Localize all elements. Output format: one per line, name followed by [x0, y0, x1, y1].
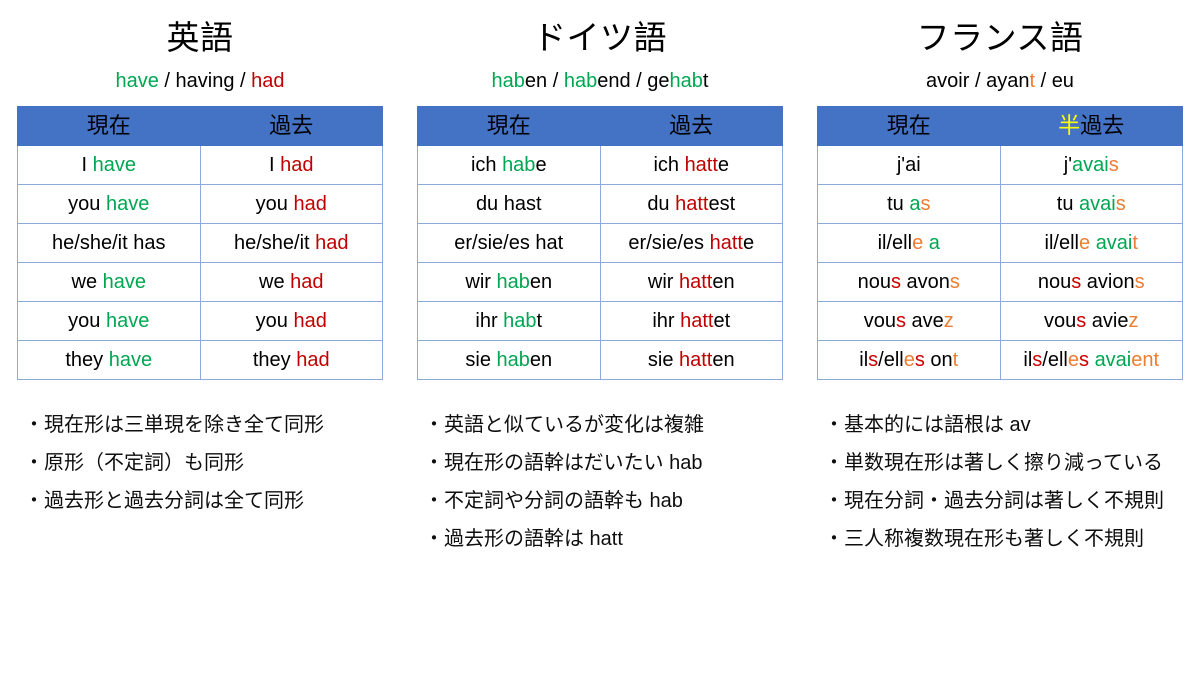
- text-segment: you: [68, 193, 106, 215]
- text-segment: have: [103, 271, 146, 293]
- text-segment: avai: [1079, 193, 1116, 215]
- cell-present: I have: [18, 146, 201, 185]
- note-item: 現在形は三単現を除き全て同形: [24, 406, 390, 444]
- conjugation-table: 現在過去I haveI hadyou haveyou hadhe/she/it …: [17, 106, 383, 380]
- text-segment: s: [950, 271, 960, 293]
- cell-present: wir haben: [418, 263, 601, 302]
- text-segment: s: [1071, 271, 1081, 293]
- text-segment: he/she/it: [234, 232, 315, 254]
- text-segment: 現在: [87, 113, 131, 138]
- text-segment: er/sie/es: [628, 232, 709, 254]
- text-segment: had: [280, 154, 313, 176]
- note-item: 過去形と過去分詞は全て同形: [24, 482, 390, 520]
- conjugation-table: 現在半過去j'aij'avaistu astu avaisil/elle ail…: [817, 106, 1183, 380]
- text-segment: 過去: [1080, 113, 1124, 138]
- text-segment: en: [530, 349, 552, 371]
- cell-past: vous aviez: [1000, 302, 1183, 341]
- note-item: 英語と似ているが変化は複雑: [424, 406, 790, 444]
- text-segment: hatt: [679, 271, 712, 293]
- text-segment: /: [969, 70, 986, 92]
- table-header-row: 現在過去: [418, 107, 783, 146]
- note-item: 基本的には語根は av: [824, 406, 1190, 444]
- text-segment: had: [290, 271, 323, 293]
- text-segment: t: [953, 349, 959, 371]
- cell-past: we had: [200, 263, 383, 302]
- text-segment: t: [703, 70, 709, 92]
- notes-list: 現在形は三単現を除き全て同形原形（不定詞）も同形過去形と過去分詞は全て同形: [10, 406, 390, 520]
- text-segment: s: [915, 349, 925, 371]
- text-segment: avoir: [926, 70, 969, 92]
- notes-list: 英語と似ているが変化は複雑現在形の語幹はだいたい hab不定詞や分詞の語幹も h…: [410, 406, 790, 558]
- text-segment: s: [1079, 349, 1089, 371]
- cell-present: ils/elles ont: [818, 341, 1001, 380]
- cell-past: nous avions: [1000, 263, 1183, 302]
- text-segment: hatt: [685, 154, 718, 176]
- text-segment: ihr: [652, 310, 680, 332]
- text-segment: we: [72, 271, 103, 293]
- column-header-past: 過去: [200, 107, 383, 146]
- text-segment: en: [530, 271, 552, 293]
- text-segment: nou: [858, 271, 891, 293]
- text-segment: e: [1079, 232, 1090, 254]
- text-segment: e: [535, 154, 546, 176]
- text-segment: hab: [502, 154, 535, 176]
- column-header-past: 半過去: [1000, 107, 1183, 146]
- table-header-row: 現在過去: [18, 107, 383, 146]
- text-segment: s: [1109, 154, 1119, 176]
- text-segment: had: [315, 232, 348, 254]
- text-segment: en: [712, 349, 734, 371]
- note-item: 原形（不定詞）も同形: [24, 444, 390, 482]
- note-item: 単数現在形は著しく擦り減っている: [824, 444, 1190, 482]
- table-row: you haveyou had: [18, 185, 383, 224]
- table-row: wir habenwir hatten: [418, 263, 783, 302]
- text-segment: avon: [901, 271, 950, 293]
- text-segment: s: [1032, 349, 1042, 371]
- text-segment: s: [920, 193, 930, 215]
- text-segment: ich: [471, 154, 502, 176]
- text-segment: ave: [906, 310, 944, 332]
- text-segment: il: [859, 349, 868, 371]
- cell-past: ich hatte: [600, 146, 783, 185]
- language-columns: 英語have / having / had現在過去I haveI hadyou …: [0, 0, 1200, 558]
- cell-present: vous avez: [818, 302, 1001, 341]
- text-segment: had: [251, 70, 284, 92]
- text-segment: e: [743, 232, 754, 254]
- conjugation-table: 現在過去ich habeich hattedu hastdu hattester…: [417, 106, 783, 380]
- text-segment: z: [944, 310, 954, 332]
- text-segment: having: [176, 70, 235, 92]
- text-segment: hab: [497, 349, 530, 371]
- cell-past: j'avais: [1000, 146, 1183, 185]
- table-row: we havewe had: [18, 263, 383, 302]
- text-segment: 現在: [887, 113, 931, 138]
- text-segment: avion: [1081, 271, 1134, 293]
- text-segment: il: [1023, 349, 1032, 371]
- text-segment: /: [547, 70, 564, 92]
- cell-present: sie haben: [418, 341, 601, 380]
- text-segment: e: [718, 154, 729, 176]
- cell-present: ihr habt: [418, 302, 601, 341]
- cell-present: they have: [18, 341, 201, 380]
- text-segment: ich: [653, 154, 684, 176]
- cell-present: j'ai: [818, 146, 1001, 185]
- table-row: j'aij'avais: [818, 146, 1183, 185]
- cell-past: du hattest: [600, 185, 783, 224]
- cell-present: tu as: [818, 185, 1001, 224]
- text-segment: avai: [1072, 154, 1109, 176]
- table-row: du hastdu hattest: [418, 185, 783, 224]
- text-segment: /: [234, 70, 251, 92]
- cell-past: ils/elles avaient: [1000, 341, 1183, 380]
- text-segment: had: [293, 310, 326, 332]
- language-column-english: 英語have / having / had現在過去I haveI hadyou …: [0, 14, 400, 520]
- text-segment: er/sie/es hat: [454, 232, 563, 254]
- text-segment: wir: [648, 271, 679, 293]
- table-row: ich habeich hatte: [418, 146, 783, 185]
- cell-present: du hast: [418, 185, 601, 224]
- text-segment: I: [269, 154, 280, 176]
- text-segment: eu: [1052, 70, 1074, 92]
- cell-past: er/sie/es hatte: [600, 224, 783, 263]
- text-segment: have: [106, 193, 149, 215]
- text-segment: et: [713, 310, 730, 332]
- text-segment: du: [647, 193, 675, 215]
- column-title: ドイツ語: [410, 14, 790, 62]
- cell-past: they had: [200, 341, 383, 380]
- table-row: vous avezvous aviez: [818, 302, 1183, 341]
- text-segment: hab: [503, 310, 536, 332]
- text-segment: you: [256, 310, 294, 332]
- language-column-french: フランス語avoir / ayant / eu現在半過去j'aij'avaist…: [800, 14, 1200, 558]
- text-segment: /: [631, 70, 648, 92]
- text-segment: 過去: [669, 113, 713, 138]
- text-segment: s: [1116, 193, 1126, 215]
- cell-past: tu avais: [1000, 185, 1183, 224]
- cell-past: he/she/it had: [200, 224, 383, 263]
- text-segment: e: [904, 349, 915, 371]
- text-segment: they: [65, 349, 108, 371]
- text-segment: e: [1068, 349, 1079, 371]
- text-segment: ent: [1131, 349, 1159, 371]
- text-segment: wir: [465, 271, 496, 293]
- cell-past: you had: [200, 302, 383, 341]
- column-header-present: 現在: [18, 107, 201, 146]
- text-segment: il/ell: [1045, 232, 1079, 254]
- note-item: 現在分詞・過去分詞は著しく不規則: [824, 482, 1190, 520]
- principal-parts: haben / habend / gehabt: [410, 68, 790, 94]
- text-segment: had: [293, 193, 326, 215]
- cell-present: you have: [18, 185, 201, 224]
- text-segment: ayan: [986, 70, 1029, 92]
- text-segment: s: [1135, 271, 1145, 293]
- text-segment: hab: [564, 70, 597, 92]
- cell-past: wir hatten: [600, 263, 783, 302]
- text-segment: on: [925, 349, 953, 371]
- text-segment: ihr: [475, 310, 503, 332]
- text-segment: tu: [1057, 193, 1079, 215]
- column-header-present: 現在: [818, 107, 1001, 146]
- cell-past: sie hatten: [600, 341, 783, 380]
- note-item: 過去形の語幹は hatt: [424, 520, 790, 558]
- table-row: they havethey had: [18, 341, 383, 380]
- text-segment: I: [82, 154, 93, 176]
- text-segment: s: [896, 310, 906, 332]
- text-segment: a: [909, 193, 920, 215]
- text-segment: hab: [492, 70, 525, 92]
- text-segment: est: [708, 193, 735, 215]
- cell-present: he/she/it has: [18, 224, 201, 263]
- text-segment: /: [159, 70, 176, 92]
- text-segment: hatt: [710, 232, 743, 254]
- text-segment: z: [1129, 310, 1139, 332]
- language-column-german: ドイツ語haben / habend / gehabt現在過去ich habei…: [400, 14, 800, 558]
- text-segment: vou: [864, 310, 896, 332]
- table-row: il/elle ail/elle avait: [818, 224, 1183, 263]
- notes-list: 基本的には語根は av単数現在形は著しく擦り減っている現在分詞・過去分詞は著しく…: [810, 406, 1190, 558]
- table-row: he/she/it hashe/she/it had: [18, 224, 383, 263]
- text-segment: du hast: [476, 193, 542, 215]
- text-segment: avie: [1086, 310, 1128, 332]
- text-segment: 現在: [487, 113, 531, 138]
- text-segment: j'ai: [897, 154, 921, 176]
- text-segment: have: [93, 154, 136, 176]
- text-segment: 過去: [269, 113, 313, 138]
- text-segment: t: [537, 310, 543, 332]
- cell-past: you had: [200, 185, 383, 224]
- text-segment: /ell: [1042, 349, 1068, 371]
- table-row: tu astu avais: [818, 185, 1183, 224]
- text-segment: sie: [648, 349, 679, 371]
- cell-past: ihr hattet: [600, 302, 783, 341]
- principal-parts: have / having / had: [10, 68, 390, 94]
- text-segment: 半: [1058, 113, 1080, 138]
- cell-present: ich habe: [418, 146, 601, 185]
- text-segment: il/ell: [878, 232, 912, 254]
- text-segment: ge: [647, 70, 669, 92]
- note-item: 三人称複数現在形も著しく不規則: [824, 520, 1190, 558]
- text-segment: have: [109, 349, 152, 371]
- cell-present: nous avons: [818, 263, 1001, 302]
- table-row: er/sie/es hater/sie/es hatte: [418, 224, 783, 263]
- column-title: 英語: [10, 14, 390, 62]
- cell-present: you have: [18, 302, 201, 341]
- slide-root: 英語have / having / had現在過去I haveI hadyou …: [0, 0, 1200, 675]
- text-segment: s: [1076, 310, 1086, 332]
- text-segment: nou: [1038, 271, 1071, 293]
- column-header-present: 現在: [418, 107, 601, 146]
- column-title: フランス語: [810, 14, 1190, 62]
- text-segment: avai: [1096, 232, 1133, 254]
- text-segment: have: [115, 70, 158, 92]
- text-segment: e: [912, 232, 923, 254]
- note-item: 不定詞や分詞の語幹も hab: [424, 482, 790, 520]
- table-header-row: 現在半過去: [818, 107, 1183, 146]
- text-segment: we: [259, 271, 290, 293]
- text-segment: they: [253, 349, 296, 371]
- text-segment: t: [1132, 232, 1138, 254]
- text-segment: you: [256, 193, 294, 215]
- text-segment: /: [1035, 70, 1052, 92]
- text-segment: hatt: [679, 349, 712, 371]
- text-segment: vou: [1044, 310, 1076, 332]
- note-item: 現在形の語幹はだいたい hab: [424, 444, 790, 482]
- text-segment: sie: [465, 349, 496, 371]
- text-segment: he/she/it has: [52, 232, 165, 254]
- column-header-past: 過去: [600, 107, 783, 146]
- cell-present: er/sie/es hat: [418, 224, 601, 263]
- text-segment: j': [1064, 154, 1072, 176]
- text-segment: /ell: [878, 349, 904, 371]
- text-segment: had: [296, 349, 329, 371]
- table-row: I haveI had: [18, 146, 383, 185]
- text-segment: s: [868, 349, 878, 371]
- table-row: you haveyou had: [18, 302, 383, 341]
- text-segment: avai: [1095, 349, 1132, 371]
- text-segment: en: [525, 70, 547, 92]
- table-row: nous avonsnous avions: [818, 263, 1183, 302]
- text-segment: hab: [670, 70, 703, 92]
- cell-present: we have: [18, 263, 201, 302]
- text-segment: have: [106, 310, 149, 332]
- table-row: sie habensie hatten: [418, 341, 783, 380]
- text-segment: a: [929, 232, 940, 254]
- text-segment: en: [712, 271, 734, 293]
- text-segment: tu: [887, 193, 909, 215]
- text-segment: you: [68, 310, 106, 332]
- principal-parts: avoir / ayant / eu: [810, 68, 1190, 94]
- cell-present: il/elle a: [818, 224, 1001, 263]
- table-row: ihr habtihr hattet: [418, 302, 783, 341]
- text-segment: s: [891, 271, 901, 293]
- text-segment: hatt: [675, 193, 708, 215]
- cell-past: I had: [200, 146, 383, 185]
- table-row: ils/elles ontils/elles avaient: [818, 341, 1183, 380]
- text-segment: end: [597, 70, 630, 92]
- text-segment: hatt: [680, 310, 713, 332]
- text-segment: hab: [496, 271, 529, 293]
- cell-past: il/elle avait: [1000, 224, 1183, 263]
